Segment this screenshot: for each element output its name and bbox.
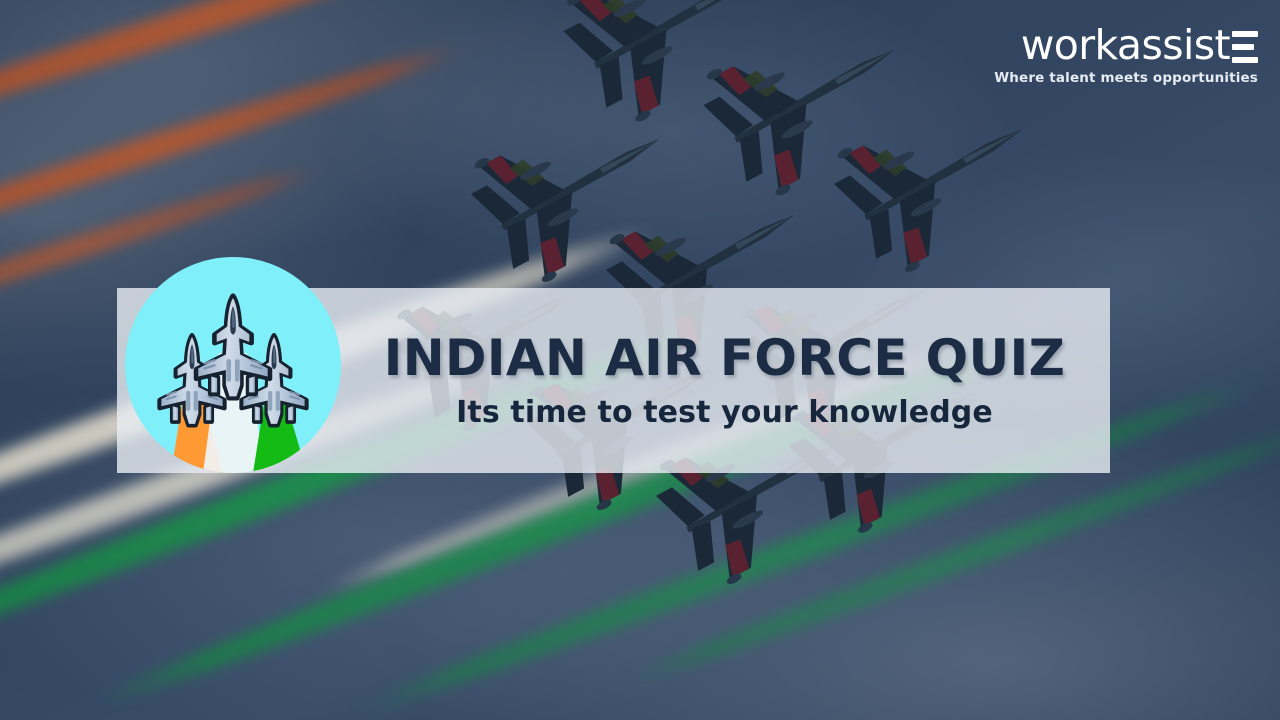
logo-wordmark-row: workassist: [994, 26, 1258, 65]
logo-wordmark: workassist: [1021, 26, 1230, 65]
fighter-jet-center: [196, 296, 269, 398]
page-title: INDIAN AIR FORCE QUIZ: [384, 332, 1066, 385]
stacked-bars-e-mark-icon: [1232, 31, 1258, 63]
fighter-jets-badge: [125, 257, 341, 473]
quiz-banner: INDIAN AIR FORCE QUIZ Its time to test y…: [117, 288, 1110, 473]
promo-banner-image: workassist Where talent meets opportunit…: [0, 0, 1280, 720]
page-subtitle: Its time to test your knowledge: [456, 395, 993, 430]
logo-tagline: Where talent meets opportunities: [994, 70, 1258, 86]
workassist-logo[interactable]: workassist Where talent meets opportunit…: [994, 26, 1258, 86]
